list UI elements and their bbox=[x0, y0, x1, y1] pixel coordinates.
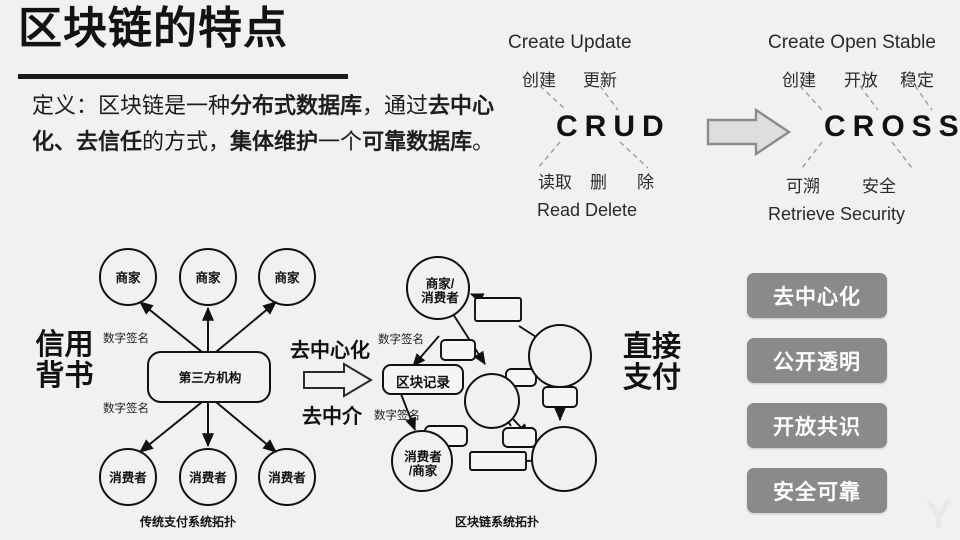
merchant-node-3-label: 商家 bbox=[265, 271, 309, 285]
peer-bottom-line1: 消费者 bbox=[395, 450, 451, 464]
feature-tag-secure[interactable]: 安全可靠 bbox=[747, 468, 887, 513]
right-signature-label-bottom: 数字签名 bbox=[374, 407, 420, 423]
block-link-7 bbox=[470, 452, 526, 470]
cross-bottom-english: Retrieve Security bbox=[768, 204, 905, 225]
definition-text: 定义：区块链是一种分布式数据库，通过去中心化、去信任的方式，集体维护一个可靠数据… bbox=[32, 88, 512, 159]
merchant-node-1-label: 商家 bbox=[106, 271, 150, 285]
middle-call-top: 去中心化 bbox=[290, 334, 370, 363]
right-signature-label-top: 数字签名 bbox=[378, 331, 424, 347]
left-diagram-caption: 传统支付系统拓扑 bbox=[140, 513, 236, 530]
page-title: 区块链的特点 bbox=[18, 6, 288, 52]
block-link-1 bbox=[475, 298, 521, 321]
middle-call-bottom: 去中介 bbox=[302, 400, 362, 429]
watermark: Y bbox=[925, 493, 954, 538]
right-arrow-outline-icon bbox=[302, 362, 374, 398]
block-record-box-label: 区块记录 bbox=[383, 375, 463, 391]
peer-bottom-line2: /商家 bbox=[395, 464, 451, 478]
right-diagram-sidecall: 直接 支付 bbox=[606, 332, 698, 395]
feature-tag-decentralized[interactable]: 去中心化 bbox=[747, 273, 887, 318]
right-diagram-caption: 区块链系统拓扑 bbox=[455, 513, 539, 530]
cross-acronym: CROSS bbox=[824, 110, 960, 144]
peer-node-merchant-consumer-label: 商家/ 消费者 bbox=[412, 277, 468, 306]
third-party-box-label: 第三方机构 bbox=[149, 371, 271, 385]
block-link-2 bbox=[441, 340, 475, 360]
cross-bottom-chinese-security: 安全 bbox=[862, 172, 896, 197]
title-underline bbox=[18, 74, 348, 79]
peer-top-line1: 商家/ bbox=[412, 277, 468, 291]
peer-node-consumer-merchant-label: 消费者 /商家 bbox=[395, 450, 451, 479]
crud-top-english: Create Update bbox=[508, 32, 632, 54]
peer-node-c bbox=[532, 427, 596, 491]
consumer-node-2-label: 消费者 bbox=[180, 471, 236, 485]
block-link-4 bbox=[543, 387, 577, 407]
crud-bottom-chinese-shan: 删 bbox=[590, 168, 607, 193]
consumer-node-3-label: 消费者 bbox=[259, 471, 315, 485]
peer-node-a bbox=[465, 374, 519, 428]
right-sidecall-line1: 直接 bbox=[606, 332, 698, 363]
peer-node-b bbox=[529, 325, 591, 387]
crud-bottom-english: Read Delete bbox=[537, 200, 637, 221]
cross-bottom-chinese-retrieve: 可溯 bbox=[786, 172, 820, 197]
peer-top-line2: 消费者 bbox=[412, 291, 468, 305]
cross-top-english: Create Open Stable bbox=[768, 32, 936, 54]
crud-bottom-chinese-chu: 除 bbox=[637, 168, 654, 193]
feature-tag-transparent[interactable]: 公开透明 bbox=[747, 338, 887, 383]
crud-bottom-chinese-read: 读取 bbox=[538, 168, 572, 193]
right-sidecall-line2: 支付 bbox=[606, 363, 698, 394]
consumer-node-1-label: 消费者 bbox=[100, 471, 156, 485]
crud-acronym: CRUD bbox=[556, 110, 671, 144]
slide-canvas: 区块链的特点 定义：区块链是一种分布式数据库，通过去中心化、去信任的方式，集体维… bbox=[0, 0, 960, 540]
merchant-node-2-label: 商家 bbox=[186, 271, 230, 285]
left-signature-label-bottom: 数字签名 bbox=[103, 400, 149, 416]
block-link-6 bbox=[503, 428, 536, 447]
left-signature-label-top: 数字签名 bbox=[103, 330, 149, 346]
feature-tag-consensus[interactable]: 开放共识 bbox=[747, 403, 887, 448]
